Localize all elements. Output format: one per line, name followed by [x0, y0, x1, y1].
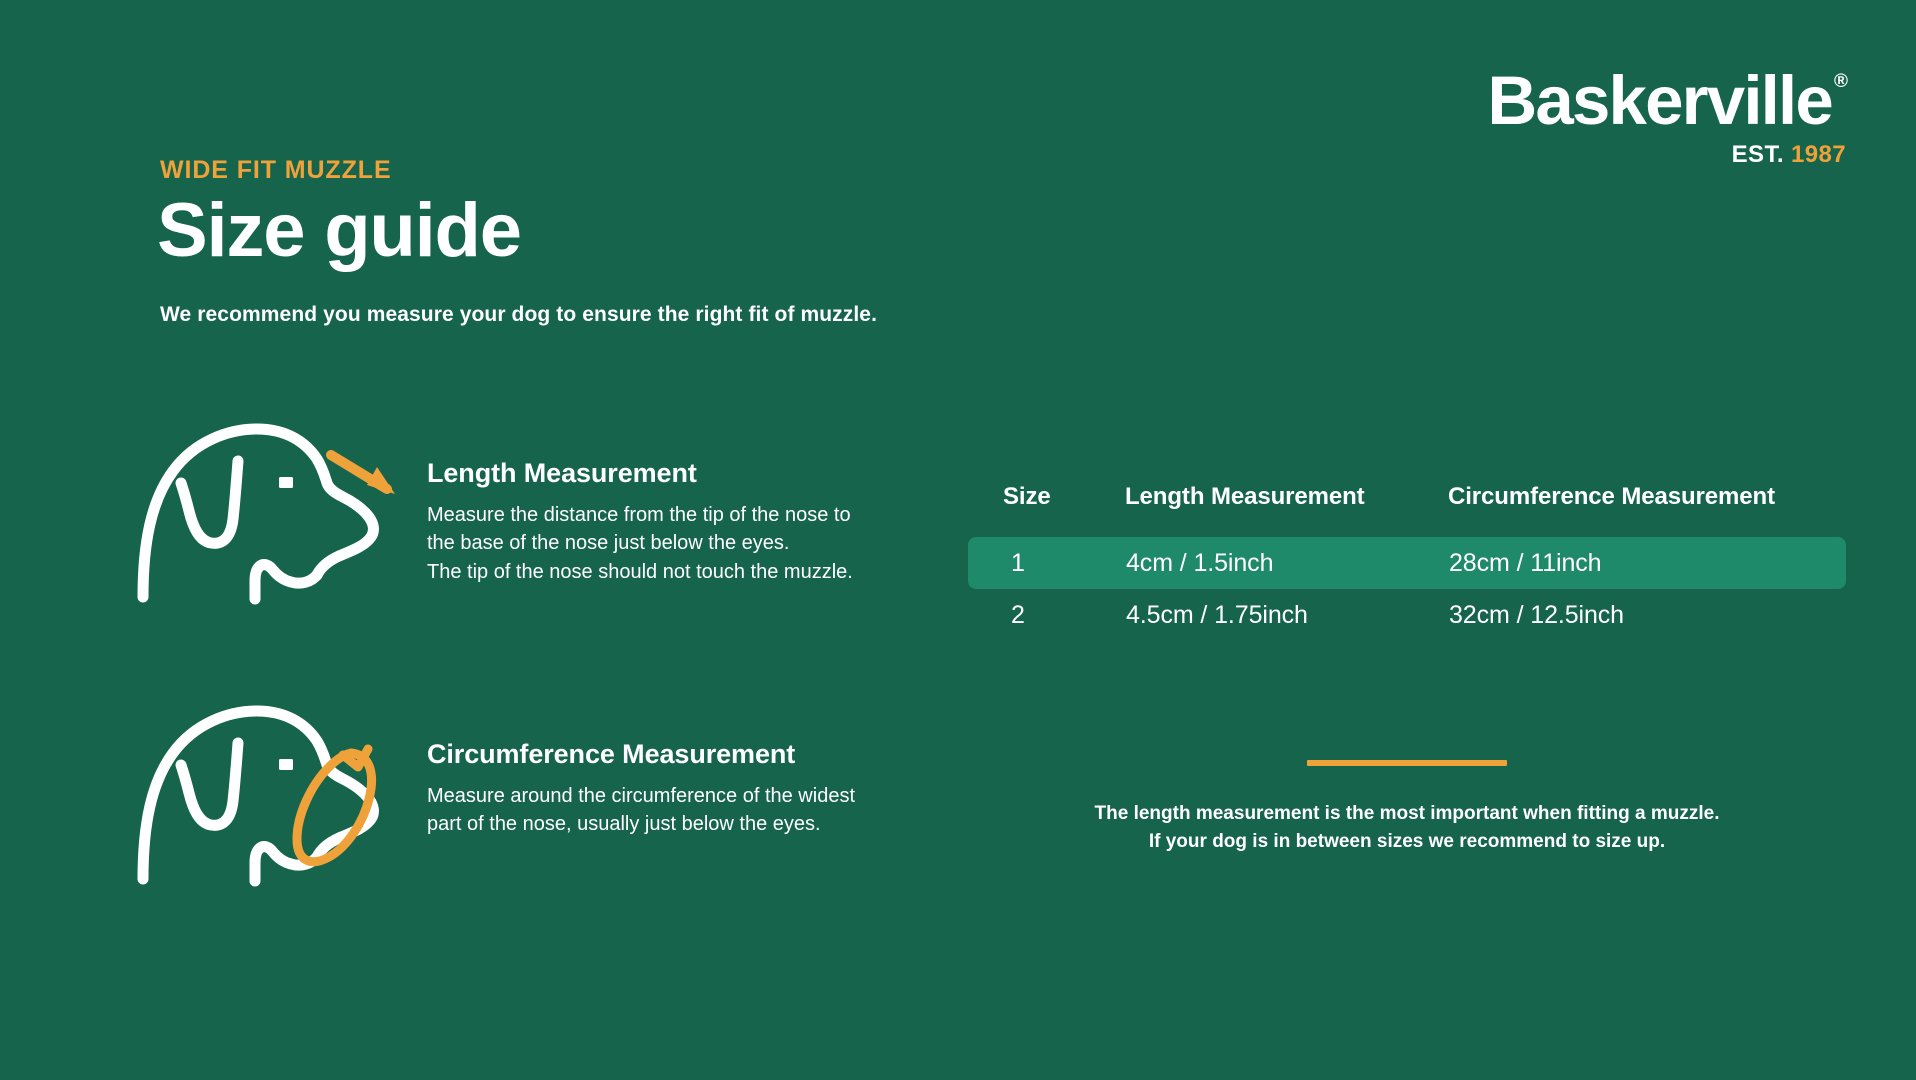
table-cell-circumference: 32cm / 12.5inch — [1446, 589, 1846, 641]
brand-established: EST. 1987 — [1487, 141, 1846, 169]
dog-head-length-arrow-icon — [125, 415, 415, 610]
size-table-body: 1 4cm / 1.5inch 28cm / 11inch 2 4.5cm / … — [968, 537, 1846, 641]
section-length-copy: Length Measurement Measure the distance … — [427, 458, 853, 586]
table-cell-size: 2 — [968, 589, 1118, 641]
table-cell-length: 4cm / 1.5inch — [1118, 537, 1446, 589]
brand-wordmark: Baskerville® — [1487, 66, 1846, 135]
section-circumference-body: Measure around the circumference of the … — [427, 782, 855, 839]
page-title: Size guide — [157, 192, 521, 270]
section-length-body-line-2: the base of the nose just below the eyes… — [427, 529, 853, 557]
section-circumference-measurement: Circumference Measurement Measure around… — [125, 697, 925, 887]
size-table-grid: Size Length Measurement Circumference Me… — [968, 483, 1846, 641]
page-subtitle: We recommend you measure your dog to ens… — [160, 303, 877, 327]
table-row[interactable]: 1 4cm / 1.5inch 28cm / 11inch — [968, 537, 1846, 589]
section-circumference-body-line-1: Measure around the circumference of the … — [427, 782, 855, 810]
brand-est-label: EST. — [1732, 141, 1784, 168]
table-cell-length: 4.5cm / 1.75inch — [1118, 589, 1446, 641]
section-circumference-copy: Circumference Measurement Measure around… — [427, 739, 855, 839]
table-header-length: Length Measurement — [1118, 483, 1446, 537]
section-length-body-line-1: Measure the distance from the tip of the… — [427, 501, 853, 529]
section-length-body-line-3: The tip of the nose should not touch the… — [427, 558, 853, 586]
dog-head-circumference-loop-icon — [125, 697, 415, 892]
footer-note: The length measurement is the most impor… — [968, 760, 1846, 855]
brand-est-year: 1987 — [1791, 141, 1846, 168]
size-guide-poster: Baskerville® EST. 1987 WIDE FIT MUZZLE S… — [0, 0, 1916, 1080]
table-cell-size: 1 — [968, 537, 1118, 589]
section-length-title: Length Measurement — [427, 458, 853, 489]
size-table: Size Length Measurement Circumference Me… — [968, 483, 1846, 641]
footer-note-text: The length measurement is the most impor… — [968, 800, 1846, 855]
size-table-header: Size Length Measurement Circumference Me… — [968, 483, 1846, 537]
registered-trademark-icon: ® — [1834, 71, 1848, 92]
footer-note-line-2: If your dog is in between sizes we recom… — [968, 828, 1846, 856]
table-row[interactable]: 2 4.5cm / 1.75inch 32cm / 12.5inch — [968, 589, 1846, 641]
footer-note-line-1: The length measurement is the most impor… — [968, 800, 1846, 828]
orange-divider — [1307, 760, 1507, 766]
section-length-measurement: Length Measurement Measure the distance … — [125, 415, 925, 605]
brand-logo: Baskerville® EST. 1987 — [1487, 66, 1846, 169]
table-header-size: Size — [968, 483, 1118, 537]
arrow-orange — [331, 455, 395, 494]
section-circumference-title: Circumference Measurement — [427, 739, 855, 770]
brand-wordmark-text: Baskerville — [1487, 62, 1832, 139]
section-length-body: Measure the distance from the tip of the… — [427, 501, 853, 586]
table-cell-circumference: 28cm / 11inch — [1446, 537, 1846, 589]
table-header-circumference: Circumference Measurement — [1446, 483, 1846, 537]
section-circumference-body-line-2: part of the nose, usually just below the… — [427, 810, 855, 838]
product-eyebrow: WIDE FIT MUZZLE — [160, 156, 392, 185]
table-header-row: Size Length Measurement Circumference Me… — [968, 483, 1846, 537]
